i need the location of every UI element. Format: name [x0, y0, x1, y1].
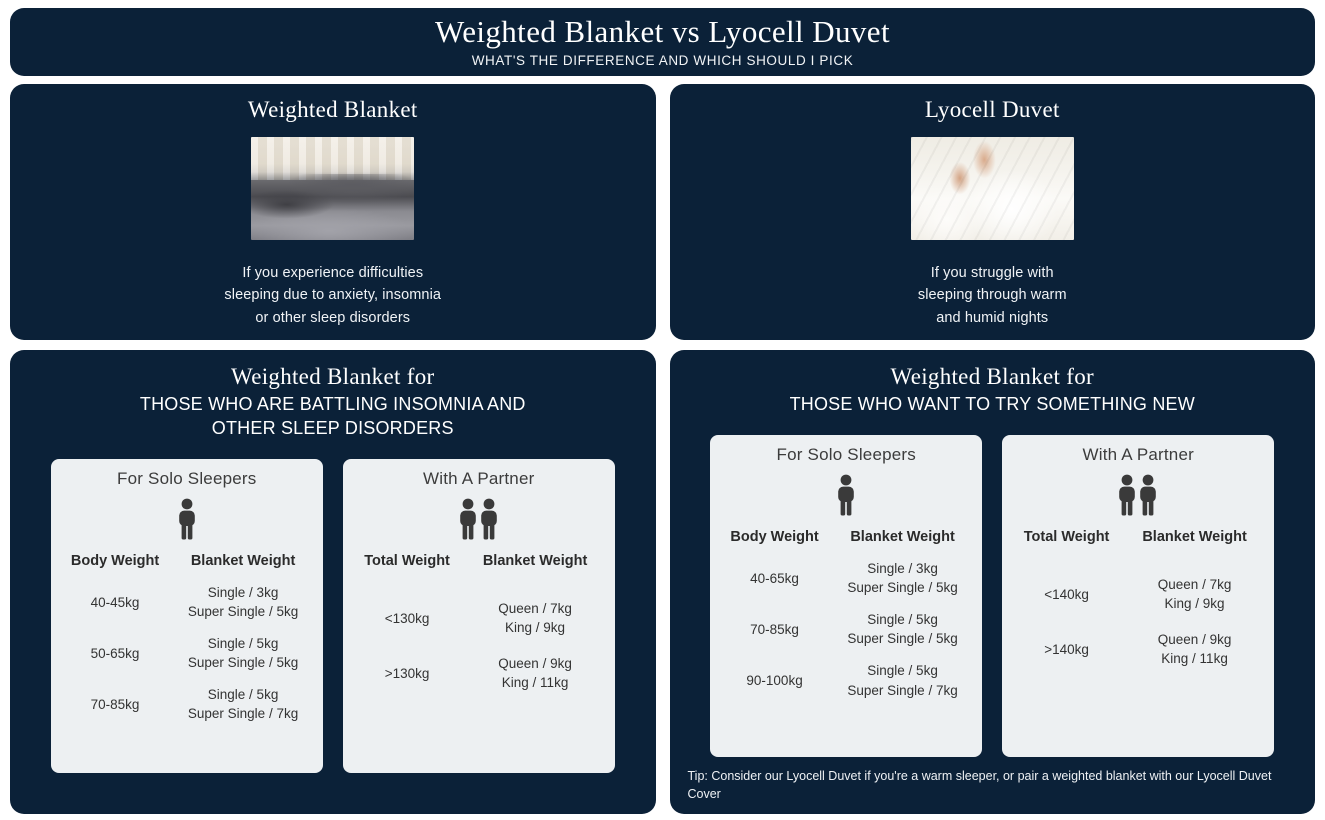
table-row: 50-65kg Single / 5kgSuper Single / 5kg	[59, 628, 315, 679]
tip-text: Tip: Consider our Lyocell Duvet if you'r…	[688, 767, 1298, 805]
weight-table-rows: <140kg Queen / 7kgKing / 9kg >140kg Quee…	[1010, 567, 1266, 677]
cell-weight: >130kg	[351, 666, 464, 681]
column-left: Weighted Blanket If you experience diffi…	[10, 84, 656, 814]
column-header-blanket: Blanket Weight	[171, 553, 314, 569]
lyocell-duvet-photo	[911, 137, 1074, 240]
cell-blanket: Single / 3kgSuper Single / 5kg	[171, 583, 314, 622]
cell-blanket: Single / 3kgSuper Single / 5kg	[831, 559, 974, 598]
two-people-icon	[1116, 473, 1160, 517]
weight-table-title: With A Partner	[423, 469, 534, 489]
weighted-blanket-photo	[251, 137, 414, 240]
cell-blanket: Single / 5kgSuper Single / 5kg	[831, 610, 974, 649]
weight-table-title: For Solo Sleepers	[117, 469, 256, 489]
intro-card-title: Lyocell Duvet	[925, 97, 1060, 123]
weight-tables: For Solo Sleepers Body Weight Blank	[28, 459, 638, 773]
page-title: Weighted Blanket vs Lyocell Duvet	[435, 16, 890, 49]
cell-weight: 50-65kg	[59, 646, 172, 661]
table-row: <140kg Queen / 7kgKing / 9kg	[1010, 567, 1266, 622]
cell-weight: 70-85kg	[718, 622, 831, 637]
cell-blanket: Queen / 7kgKing / 9kg	[1123, 575, 1266, 614]
weight-tables: For Solo Sleepers Body Weight Blank	[688, 435, 1298, 757]
recommendation-title: Weighted Blanket for	[891, 364, 1094, 390]
weight-table-rows: <130kg Queen / 7kgKing / 9kg >130kg Quee…	[351, 591, 607, 701]
weight-table-header-row: Body Weight Blanket Weight	[718, 529, 974, 545]
cell-weight: >140kg	[1010, 642, 1123, 657]
weight-table-rows: 40-65kg Single / 3kgSuper Single / 5kg 7…	[718, 553, 974, 706]
cell-weight: 40-45kg	[59, 595, 172, 610]
header-banner: Weighted Blanket vs Lyocell Duvet WHAT'S…	[10, 8, 1315, 76]
cell-blanket: Single / 5kgSuper Single / 7kg	[831, 661, 974, 700]
column-right: Lyocell Duvet If you struggle withsleepi…	[670, 84, 1316, 814]
intro-card-title: Weighted Blanket	[248, 97, 418, 123]
intro-card-description: If you struggle withsleeping through war…	[918, 262, 1067, 329]
intro-card-weighted-blanket: Weighted Blanket If you experience diffi…	[10, 84, 656, 340]
page-subtitle: WHAT'S THE DIFFERENCE AND WHICH SHOULD I…	[472, 53, 854, 68]
cell-weight: <140kg	[1010, 587, 1123, 602]
column-header-blanket: Blanket Weight	[463, 553, 606, 569]
table-row: 40-65kg Single / 3kgSuper Single / 5kg	[718, 553, 974, 604]
cell-blanket: Single / 5kgSuper Single / 5kg	[171, 634, 314, 673]
intro-card-lyocell-duvet: Lyocell Duvet If you struggle withsleepi…	[670, 84, 1316, 340]
cell-blanket: Single / 5kgSuper Single / 7kg	[171, 685, 314, 724]
weight-table-with-partner: With A Partner	[343, 459, 615, 773]
weight-table-header-row: Total Weight Blanket Weight	[351, 553, 607, 569]
weight-table-title: For Solo Sleepers	[777, 445, 916, 465]
recommendation-card-something-new: Weighted Blanket for THOSE WHO WANT TO T…	[670, 350, 1316, 814]
column-header-blanket: Blanket Weight	[1123, 529, 1266, 545]
weight-table-with-partner: With A Partner	[1002, 435, 1274, 757]
cell-weight: 90-100kg	[718, 673, 831, 688]
table-row: >140kg Queen / 9kgKing / 11kg	[1010, 622, 1266, 677]
table-row: 90-100kg Single / 5kgSuper Single / 7kg	[718, 655, 974, 706]
column-header-weight: Body Weight	[59, 553, 172, 569]
table-row: >130kg Queen / 9kgKing / 11kg	[351, 646, 607, 701]
column-header-weight: Total Weight	[351, 553, 464, 569]
cell-weight: 70-85kg	[59, 697, 172, 712]
cell-weight: 40-65kg	[718, 571, 831, 586]
recommendation-card-insomnia: Weighted Blanket for THOSE WHO ARE BATTL…	[10, 350, 656, 814]
infographic-page: Weighted Blanket vs Lyocell Duvet WHAT'S…	[0, 0, 1325, 820]
column-header-blanket: Blanket Weight	[831, 529, 974, 545]
weight-table-header-row: Total Weight Blanket Weight	[1010, 529, 1266, 545]
column-header-weight: Body Weight	[718, 529, 831, 545]
cell-blanket: Queen / 9kgKing / 11kg	[1123, 630, 1266, 669]
table-row: 40-45kg Single / 3kgSuper Single / 5kg	[59, 577, 315, 628]
weight-table-header-row: Body Weight Blanket Weight	[59, 553, 315, 569]
weight-table-title: With A Partner	[1083, 445, 1194, 465]
intro-card-description: If you experience difficultiessleeping d…	[224, 262, 441, 329]
single-person-icon	[176, 497, 198, 541]
single-person-icon	[835, 473, 857, 517]
recommendation-subtitle: THOSE WHO WANT TO TRY SOMETHING NEW	[790, 393, 1195, 417]
table-row: 70-85kg Single / 5kgSuper Single / 5kg	[718, 604, 974, 655]
table-row: <130kg Queen / 7kgKing / 9kg	[351, 591, 607, 646]
weight-table-solo-sleepers: For Solo Sleepers Body Weight Blank	[51, 459, 323, 773]
cell-blanket: Queen / 9kgKing / 11kg	[463, 654, 606, 693]
recommendation-title: Weighted Blanket for	[231, 364, 434, 390]
recommendation-subtitle: THOSE WHO ARE BATTLING INSOMNIA ANDOTHER…	[140, 393, 526, 441]
weight-table-solo-sleepers: For Solo Sleepers Body Weight Blank	[710, 435, 982, 757]
columns-container: Weighted Blanket If you experience diffi…	[10, 84, 1315, 814]
cell-blanket: Queen / 7kgKing / 9kg	[463, 599, 606, 638]
weight-table-rows: 40-45kg Single / 3kgSuper Single / 5kg 5…	[59, 577, 315, 730]
cell-weight: <130kg	[351, 611, 464, 626]
column-header-weight: Total Weight	[1010, 529, 1123, 545]
two-people-icon	[457, 497, 501, 541]
table-row: 70-85kg Single / 5kgSuper Single / 7kg	[59, 679, 315, 730]
